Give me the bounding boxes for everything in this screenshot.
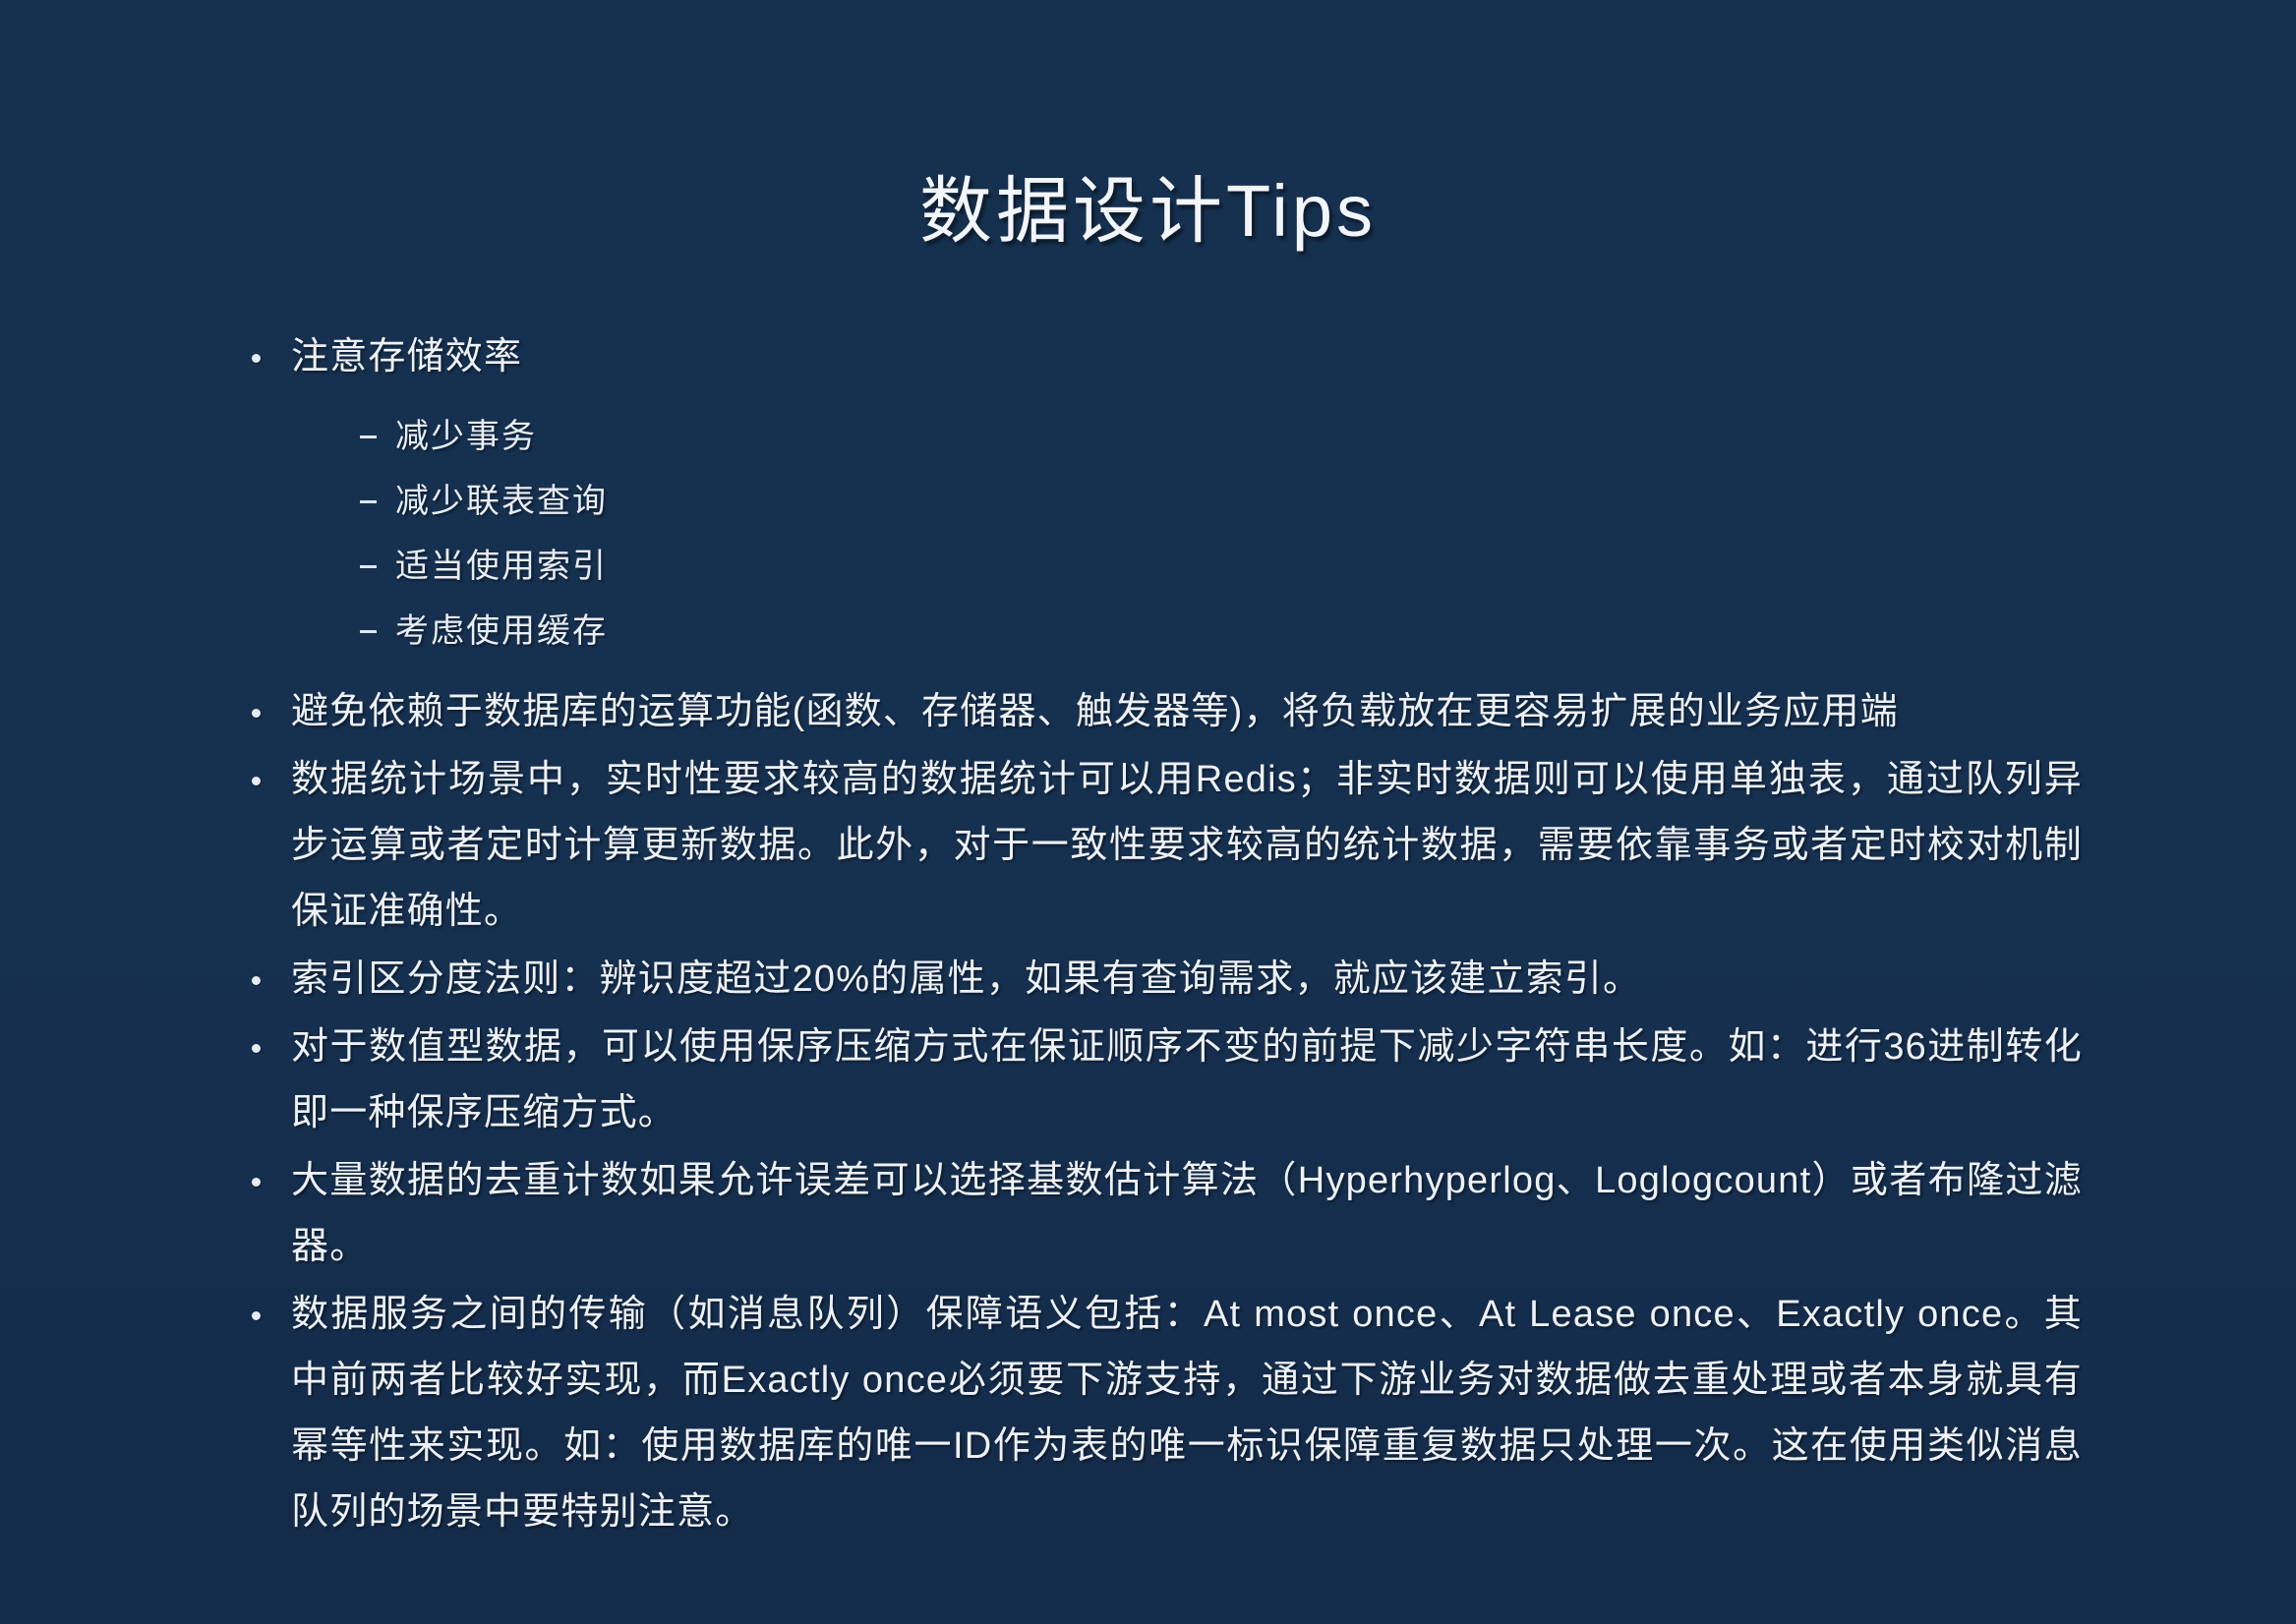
- slide-title-container: 数据设计Tips: [0, 0, 2296, 296]
- bullet-dash-icon: [360, 565, 377, 568]
- bullet-dot-icon: [252, 709, 261, 718]
- sub-bullet-list: 减少事务 减少联表查询 适当使用索引 考虑使用缓存: [291, 404, 2083, 664]
- list-item-label: 索引区分度法则：辨识度超过20%的属性，如果有查询需求，就应该建立索引。: [291, 947, 2083, 1013]
- list-item-label: 注意存储效率: [291, 324, 2083, 390]
- list-item-label: 避免依赖于数据库的运算功能(函数、存储器、触发器等)，将负载放在更容易扩展的业务…: [291, 679, 2083, 745]
- bullet-list: 注意存储效率 减少事务 减少联表查询 适当使用索引: [244, 324, 2083, 1545]
- sub-list-item: 考虑使用缓存: [354, 599, 2083, 664]
- bullet-dot-icon: [252, 1178, 261, 1187]
- list-item: 大量数据的去重计数如果允许误差可以选择基数估计算法（Hyperhyperlog、…: [244, 1148, 2083, 1280]
- list-item: 索引区分度法则：辨识度超过20%的属性，如果有查询需求，就应该建立索引。: [244, 947, 2083, 1013]
- list-item: 注意存储效率 减少事务 减少联表查询 适当使用索引: [244, 324, 2083, 664]
- sub-list-item: 减少联表查询: [354, 469, 2083, 534]
- sub-list-item-label: 考虑使用缓存: [395, 612, 608, 650]
- bullet-dot-icon: [252, 1044, 261, 1053]
- list-item-label: 对于数值型数据，可以使用保序压缩方式在保证顺序不变的前提下减少字符串长度。如：进…: [291, 1015, 2083, 1146]
- bullet-dash-icon: [360, 500, 377, 503]
- list-item-label: 数据服务之间的传输（如消息队列）保障语义包括：At most once、At L…: [291, 1282, 2083, 1545]
- bullet-dash-icon: [360, 435, 377, 438]
- list-item-label: 大量数据的去重计数如果允许误差可以选择基数估计算法（Hyperhyperlog、…: [291, 1148, 2083, 1280]
- list-item: 数据统计场景中，实时性要求较高的数据统计可以用Redis；非实时数据则可以使用单…: [244, 747, 2083, 945]
- bullet-dot-icon: [252, 976, 261, 985]
- bullet-dot-icon: [252, 777, 261, 785]
- sub-list-item: 适当使用索引: [354, 534, 2083, 599]
- list-item-label: 数据统计场景中，实时性要求较高的数据统计可以用Redis；非实时数据则可以使用单…: [291, 747, 2083, 945]
- sub-list-item-label: 减少联表查询: [395, 483, 608, 520]
- sub-list-item: 减少事务: [354, 404, 2083, 469]
- bullet-dot-icon: [252, 1311, 261, 1320]
- bullet-dash-icon: [360, 630, 377, 633]
- list-item: 对于数值型数据，可以使用保序压缩方式在保证顺序不变的前提下减少字符串长度。如：进…: [244, 1015, 2083, 1146]
- list-item: 避免依赖于数据库的运算功能(函数、存储器、触发器等)，将负载放在更容易扩展的业务…: [244, 679, 2083, 745]
- page-title: 数据设计Tips: [919, 175, 1377, 248]
- slide-root: 数据设计Tips 注意存储效率 减少事务 减少联表查询: [0, 0, 2296, 1624]
- list-item: 数据服务之间的传输（如消息队列）保障语义包括：At most once、At L…: [244, 1282, 2083, 1545]
- sub-list-item-label: 适当使用索引: [395, 548, 608, 585]
- slide-body: 注意存储效率 减少事务 减少联表查询 适当使用索引: [244, 324, 2083, 1547]
- bullet-dot-icon: [252, 354, 261, 363]
- sub-list-item-label: 减少事务: [395, 418, 537, 455]
